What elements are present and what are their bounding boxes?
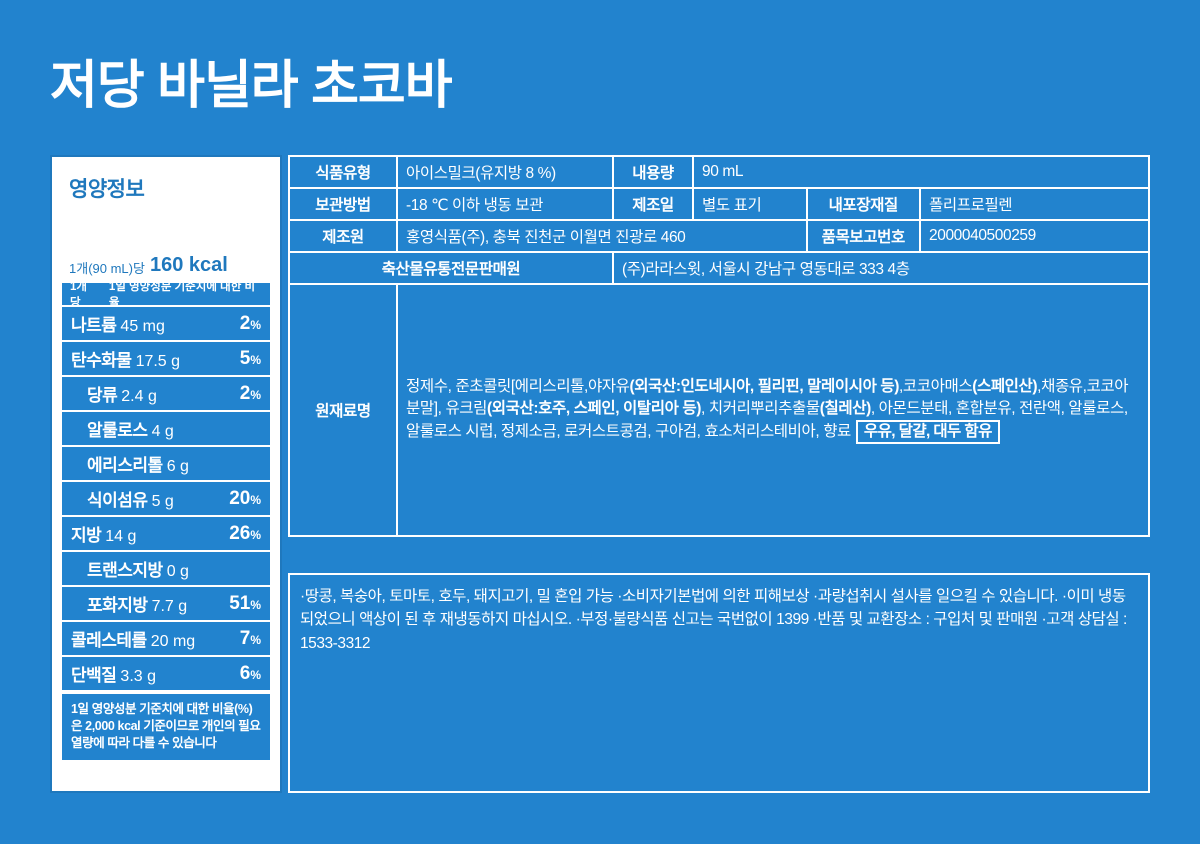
nutrition-rows: 나트륨45 mg2%탄수화물17.5 g5%당류2.4 g2%알룰로스4 g에리… <box>62 307 270 692</box>
nutrient-daily-value: 51% <box>229 593 261 615</box>
food-type-label: 식품유형 <box>290 157 398 189</box>
nutrient-amount: 20 mg <box>151 633 195 651</box>
packaging-value: 폴리프로필렌 <box>921 189 1148 221</box>
nutrition-row: 식이섬유5 g20% <box>62 482 270 515</box>
ingredient-origin: (칠레산) <box>820 400 871 417</box>
ingredient-origin: (외국산:인도네시아, 필리핀, 말레이시아 등) <box>630 378 899 395</box>
mfg-date-value: 별도 표기 <box>694 189 808 221</box>
distributor-label: 축산물유통전문판매원 <box>290 253 614 285</box>
nutrition-row-left: 트랜스지방0 g <box>71 556 189 581</box>
packaging-label: 내포장재질 <box>808 189 922 221</box>
nutrient-amount: 5 g <box>152 493 174 511</box>
storage-value: -18 ℃ 이하 냉동 보관 <box>398 189 614 221</box>
nutrient-name: 트랜스지방 <box>87 556 163 581</box>
nutrition-row: 콜레스테롤20 mg7% <box>62 622 270 655</box>
product-info-table-wrap: 식품유형 아이스밀크(유지방 8 %) 내용량 90 mL 보관방법 -18 ℃… <box>288 155 1150 537</box>
nutrition-row: 나트륨45 mg2% <box>62 307 270 340</box>
nutrient-name: 탄수화물 <box>71 346 132 371</box>
ingredient-text: ,코코아매스 <box>899 378 972 395</box>
ingredient-origin: (외국산:호주, 스페인, 이탈리아 등) <box>487 400 701 417</box>
nutrient-amount: 17.5 g <box>136 353 180 371</box>
volume-value: 90 mL <box>694 157 1148 189</box>
nutrient-name: 에리스리톨 <box>87 451 163 476</box>
nutrition-row: 알룰로스4 g <box>62 412 270 445</box>
report-no-value: 2000040500259 <box>921 221 1148 253</box>
nutrition-row-left: 지방14 g <box>71 521 136 546</box>
warning-box: ·땅콩, 복숭아, 토마토, 호두, 돼지고기, 밀 혼입 가능 ·소비자기본법… <box>288 573 1150 793</box>
nutrient-daily-value: 2% <box>240 383 261 405</box>
nutrient-amount: 3.3 g <box>120 668 156 686</box>
table-row-distributor: 축산물유통전문판매원 (주)라라스윗, 서울시 강남구 영동대로 333 4층 <box>290 253 1148 285</box>
nutrient-name: 당류 <box>87 381 117 406</box>
nutrient-daily-value: 20% <box>229 488 261 510</box>
food-type-value: 아이스밀크(유지방 8 %) <box>398 157 614 189</box>
nutrient-name: 단백질 <box>71 661 116 686</box>
serving-size-label: 1개(90 mL)당 <box>69 258 145 277</box>
nutrient-daily-value: 5% <box>240 348 261 370</box>
nutrition-row-left: 식이섬유5 g <box>71 486 174 511</box>
nutrient-amount: 45 mg <box>120 318 164 336</box>
nutrition-footnote: 1일 영양성분 기준치에 대한 비율(%)은 2,000 kcal 기준이므로 … <box>62 694 270 760</box>
nutrition-row-left: 나트륨45 mg <box>71 311 165 336</box>
table-row-ingredients: 원재료명 정제수, 준초콜릿[에리스리톨,야자유(외국산:인도네시아, 필리핀,… <box>290 285 1148 535</box>
nutrient-daily-value: 7% <box>240 628 261 650</box>
mfg-date-label: 제조일 <box>614 189 694 221</box>
header-per-serving: 1개당 <box>70 278 97 310</box>
distributor-value: (주)라라스윗, 서울시 강남구 영동대로 333 4층 <box>614 253 1148 285</box>
nutrition-row: 지방14 g26% <box>62 517 270 550</box>
volume-label: 내용량 <box>614 157 694 189</box>
nutrient-name: 지방 <box>71 521 101 546</box>
nutrient-amount: 14 g <box>105 528 136 546</box>
nutrition-row: 에리스리톨6 g <box>62 447 270 480</box>
storage-label: 보관방법 <box>290 189 398 221</box>
nutrition-row: 단백질3.3 g6% <box>62 657 270 690</box>
nutrition-row: 트랜스지방0 g <box>62 552 270 585</box>
nutrient-name: 콜레스테롤 <box>71 626 147 651</box>
calories-value: 160 kcal <box>150 254 228 277</box>
nutrient-name: 나트륨 <box>71 311 116 336</box>
ingredient-text: 정제수, 준초콜릿[에리스리톨,야자유 <box>406 378 630 395</box>
nutrient-daily-value: 2% <box>240 313 261 335</box>
nutrient-amount: 7.7 g <box>152 598 188 616</box>
nutrient-name: 알룰로스 <box>87 416 148 441</box>
nutrient-name: 포화지방 <box>87 591 148 616</box>
nutrient-daily-value: 26% <box>229 523 261 545</box>
nutrition-row: 탄수화물17.5 g5% <box>62 342 270 375</box>
nutrition-row: 당류2.4 g2% <box>62 377 270 410</box>
nutrition-row-left: 콜레스테롤20 mg <box>71 626 195 651</box>
nutrient-amount: 0 g <box>167 563 189 581</box>
ingredient-origin: (스페인산) <box>972 378 1037 395</box>
page-title: 저당 바닐라 초코바 <box>50 58 452 115</box>
ingredients-label: 원재료명 <box>290 285 398 535</box>
nutrient-amount: 2.4 g <box>121 388 157 406</box>
nutrition-row-left: 단백질3.3 g <box>71 661 156 686</box>
table-row-storage: 보관방법 -18 ℃ 이하 냉동 보관 제조일 별도 표기 내포장재질 폴리프로… <box>290 189 1148 221</box>
ingredients-value: 정제수, 준초콜릿[에리스리톨,야자유(외국산:인도네시아, 필리핀, 말레이시… <box>398 285 1148 535</box>
nutrition-row: 포화지방7.7 g51% <box>62 587 270 620</box>
serving-info: 1개(90 mL)당 160 kcal <box>69 203 270 277</box>
header-daily-value: 1일 영양성분 기준치에 대한 비율 <box>109 278 262 310</box>
manufacturer-value: 홍영식품(주), 충북 진천군 이월면 진광로 460 <box>398 221 808 253</box>
nutrition-heading: 영양정보 <box>69 173 270 203</box>
warning-text: ·땅콩, 복숭아, 토마토, 호두, 돼지고기, 밀 혼입 가능 ·소비자기본법… <box>300 585 1138 655</box>
table-row-food-type: 식품유형 아이스밀크(유지방 8 %) 내용량 90 mL <box>290 157 1148 189</box>
nutrition-row-left: 탄수화물17.5 g <box>71 346 180 371</box>
report-no-label: 품목보고번호 <box>808 221 922 253</box>
product-info-table: 식품유형 아이스밀크(유지방 8 %) 내용량 90 mL 보관방법 -18 ℃… <box>288 155 1150 537</box>
nutrition-facts-panel: 영양정보 1개(90 mL)당 160 kcal 1개당 1일 영양성분 기준치… <box>50 155 282 793</box>
nutrition-row-left: 포화지방7.7 g <box>71 591 187 616</box>
nutrient-amount: 6 g <box>167 458 189 476</box>
nutrient-amount: 4 g <box>152 423 174 441</box>
table-row-manufacturer: 제조원 홍영식품(주), 충북 진천군 이월면 진광로 460 품목보고번호 2… <box>290 221 1148 253</box>
allergen-badge: 우유, 달걀, 대두 함유 <box>856 420 1000 444</box>
nutrient-name: 식이섬유 <box>87 486 148 511</box>
nutrition-row-left: 에리스리톨6 g <box>71 451 189 476</box>
nutrient-daily-value: 6% <box>240 663 261 685</box>
nutrition-row-left: 당류2.4 g <box>71 381 157 406</box>
nutrition-table-header: 1개당 1일 영양성분 기준치에 대한 비율 <box>62 283 270 305</box>
nutrition-label-page: 저당 바닐라 초코바 영양정보 1개(90 mL)당 160 kcal 1개당 … <box>0 0 1200 844</box>
nutrition-row-left: 알룰로스4 g <box>71 416 174 441</box>
manufacturer-label: 제조원 <box>290 221 398 253</box>
ingredient-text: , 치커리뿌리추출물 <box>701 400 820 417</box>
